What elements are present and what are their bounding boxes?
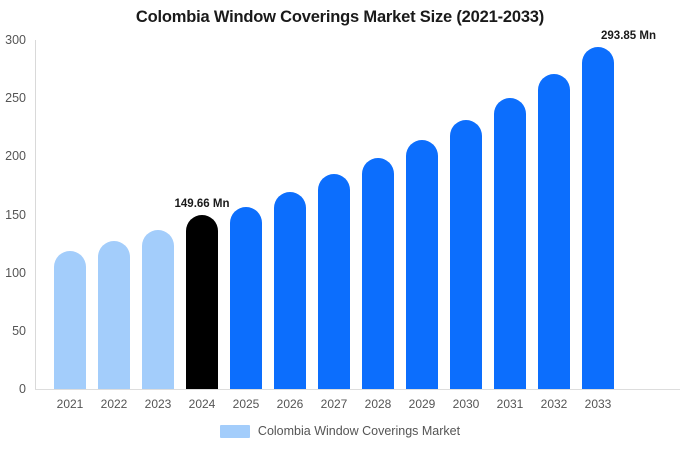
x-axis-label-2027: 2027 <box>312 397 356 411</box>
chart-title: Colombia Window Coverings Market Size (2… <box>0 8 680 27</box>
bar-slot <box>224 40 268 389</box>
x-axis-label-2030: 2030 <box>444 397 488 411</box>
x-axis-label-2025: 2025 <box>224 397 268 411</box>
y-axis-tick: 100 <box>5 266 35 280</box>
bar-slot <box>444 40 488 389</box>
y-axis-tick: 200 <box>5 149 35 163</box>
bar-2028[interactable] <box>362 158 394 390</box>
bar-2024[interactable]: 149.66 Mn <box>186 215 218 389</box>
bar-2022[interactable] <box>98 241 130 389</box>
x-axis-label-2024: 2024 <box>180 397 224 411</box>
bar-2033[interactable]: 293.85 Mn <box>582 47 614 389</box>
x-axis-label-2021: 2021 <box>48 397 92 411</box>
x-axis-label-2022: 2022 <box>92 397 136 411</box>
bar-slot <box>136 40 180 389</box>
bar-value-label-2024: 149.66 Mn <box>175 198 230 210</box>
bar-2027[interactable] <box>318 174 350 389</box>
y-axis-tick: 150 <box>5 208 35 222</box>
x-axis-label-2032: 2032 <box>532 397 576 411</box>
bar-slot <box>312 40 356 389</box>
y-axis-tick: 50 <box>12 324 35 338</box>
bar-slot <box>400 40 444 389</box>
x-axis-label-2031: 2031 <box>488 397 532 411</box>
bar-2025[interactable] <box>230 207 262 389</box>
chart-container: Colombia Window Coverings Market Size (2… <box>0 0 680 450</box>
bar-2032[interactable] <box>538 74 570 389</box>
bar-slot <box>268 40 312 389</box>
bar-slot: 149.66 Mn <box>180 40 224 389</box>
y-axis-tick: 0 <box>19 382 35 396</box>
bar-2029[interactable] <box>406 140 438 389</box>
chart-legend: Colombia Window Coverings Market <box>0 424 680 438</box>
bar-slot <box>92 40 136 389</box>
bar-slot: 293.85 Mn <box>576 40 620 389</box>
bar-value-label-2033: 293.85 Mn <box>601 30 656 42</box>
x-axis-label-2029: 2029 <box>400 397 444 411</box>
x-axis-labels: 2021202220232024202520262027202820292030… <box>35 390 680 414</box>
bar-2031[interactable] <box>494 98 526 389</box>
y-axis-tick: 300 <box>5 33 35 47</box>
bar-2030[interactable] <box>450 120 482 389</box>
bar-slot <box>488 40 532 389</box>
bar-slot <box>356 40 400 389</box>
y-axis-tick: 250 <box>5 91 35 105</box>
bar-2026[interactable] <box>274 192 306 389</box>
legend-label-colombia-window-coverings-market: Colombia Window Coverings Market <box>258 424 460 438</box>
x-axis-label-2028: 2028 <box>356 397 400 411</box>
x-axis-label-2033: 2033 <box>576 397 620 411</box>
bar-slot <box>48 40 92 389</box>
bar-2023[interactable] <box>142 230 174 389</box>
legend-swatch-colombia-window-coverings-market <box>220 425 250 438</box>
bar-2021[interactable] <box>54 251 86 389</box>
bars-layer: 149.66 Mn293.85 Mn <box>35 40 680 389</box>
x-axis-label-2026: 2026 <box>268 397 312 411</box>
x-axis-label-2023: 2023 <box>136 397 180 411</box>
bar-slot <box>532 40 576 389</box>
